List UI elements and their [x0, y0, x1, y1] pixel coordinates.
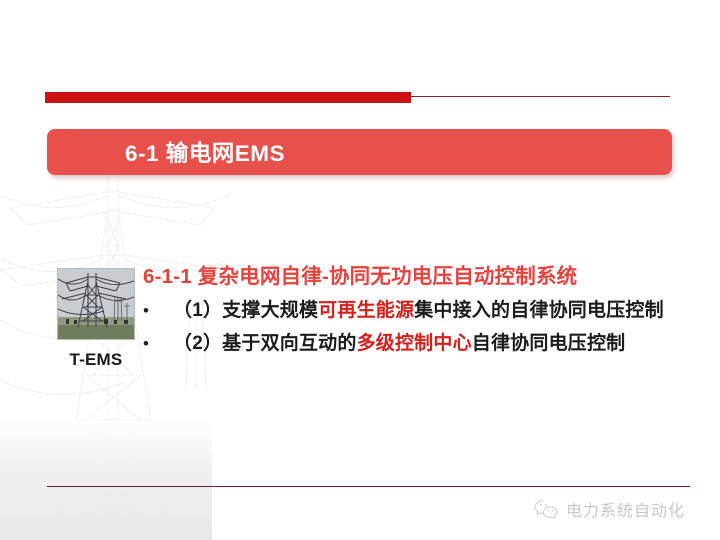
content-block: 6-1-1 复杂电网自律-协同无功电压自动控制系统 • （1）支撑大规模可再生能… [143, 262, 703, 357]
bullet-marker: • [143, 298, 173, 324]
bullet-marker: • [143, 331, 173, 357]
bullet-1-segment-plain-a: （1）支撑大规模 [173, 300, 318, 321]
bullet-text-1: （1）支撑大规模可再生能源集中接入的自律协同电压控制 [173, 298, 664, 324]
bullet-2-segment-plain-b: 自律协同电压控制 [472, 333, 626, 354]
thumbnail-block: T-EMS [57, 268, 137, 370]
section-title-label: 6-1 输电网EMS [125, 136, 285, 168]
bullet-text-2: （2）基于双向互动的多级控制中心自律协同电压控制 [173, 331, 625, 357]
slide-canvas: 6-1 输电网EMS [0, 0, 720, 540]
bottom-divider-rule [47, 486, 690, 487]
watermark-ground-plane [0, 420, 212, 540]
top-rule-thick-segment [45, 92, 411, 103]
sub-heading: 6-1-1 复杂电网自律-协同无功电压自动控制系统 [143, 262, 703, 292]
wechat-icon [533, 498, 559, 520]
footer-watermark: 电力系统自动化 [533, 497, 685, 521]
footer-watermark-text: 电力系统自动化 [566, 497, 685, 521]
list-item: • （1）支撑大规模可再生能源集中接入的自律协同电压控制 [143, 298, 703, 324]
bullet-2-segment-plain-a: （2）基于双向互动的 [173, 333, 357, 354]
top-rule-thin-segment [411, 96, 670, 97]
section-title-band: 6-1 输电网EMS [47, 129, 672, 175]
transmission-tower-photo [57, 268, 135, 340]
bullet-1-segment-plain-b: 集中接入的自律协同电压控制 [414, 300, 664, 321]
list-item: • （2）基于双向互动的多级控制中心自律协同电压控制 [143, 331, 703, 357]
bullet-2-segment-highlight: 多级控制中心 [357, 333, 472, 354]
top-accent-rule [45, 92, 670, 104]
bullet-1-segment-highlight: 可再生能源 [318, 300, 414, 321]
thumbnail-caption: T-EMS [53, 350, 139, 370]
